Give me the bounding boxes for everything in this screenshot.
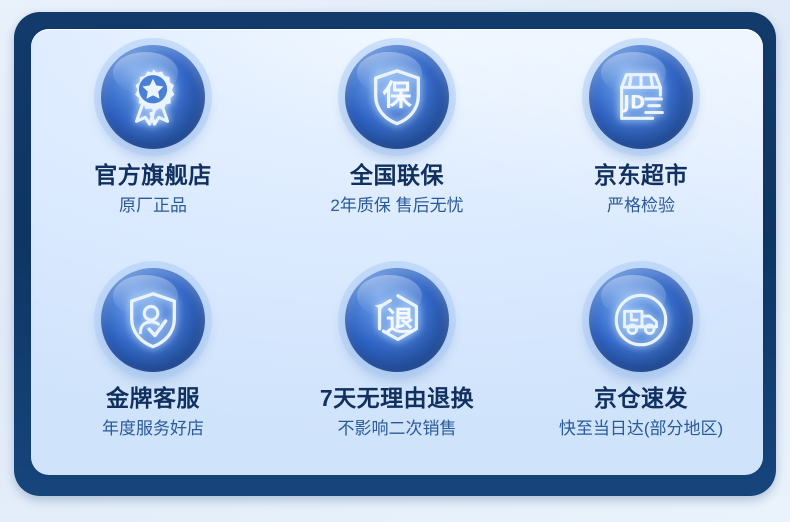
feature-subtitle: 快至当日达(部分地区) — [559, 419, 723, 439]
feature-subtitle: 不影响二次销售 — [338, 419, 457, 439]
svg-text:保: 保 — [381, 78, 412, 112]
feature-grid: 官方旗舰店 原厂正品 保 全国联保 2年质保 售后无忧 — [31, 29, 763, 475]
feature-title: 京东超市 — [594, 163, 688, 189]
feature-item-official-store[interactable]: 官方旗舰店 原厂正品 — [31, 29, 275, 252]
shield-bao-icon: 保 — [345, 45, 449, 149]
feature-title: 全国联保 — [350, 163, 444, 189]
delivery-truck-icon — [589, 268, 693, 372]
feature-title: 金牌客服 — [106, 386, 200, 412]
feature-item-jd-supermarket[interactable]: JD 京东超市 严格检验 — [519, 29, 763, 252]
feature-subtitle: 原厂正品 — [119, 196, 187, 216]
feature-title: 7天无理由退换 — [320, 386, 474, 412]
return-hexagon-tui-icon: 退 — [345, 268, 449, 372]
feature-item-gold-service[interactable]: 金牌客服 年度服务好店 — [31, 252, 275, 475]
feature-item-national-warranty[interactable]: 保 全国联保 2年质保 售后无忧 — [275, 29, 519, 252]
feature-subtitle: 年度服务好店 — [102, 419, 204, 439]
feature-subtitle: 2年质保 售后无忧 — [330, 196, 463, 216]
svg-text:退: 退 — [386, 305, 414, 338]
feature-subtitle: 严格检验 — [607, 196, 675, 216]
medal-badge-icon — [101, 45, 205, 149]
promo-banner-frame: 官方旗舰店 原厂正品 保 全国联保 2年质保 售后无忧 — [14, 12, 776, 496]
svg-text:JD: JD — [621, 93, 645, 114]
jd-box-icon: JD — [589, 45, 693, 149]
feature-title: 官方旗舰店 — [94, 163, 212, 189]
feature-title: 京仓速发 — [594, 386, 688, 412]
shield-person-check-icon — [101, 268, 205, 372]
promo-banner-card: 官方旗舰店 原厂正品 保 全国联保 2年质保 售后无忧 — [31, 29, 763, 475]
feature-item-fast-delivery[interactable]: 京仓速发 快至当日达(部分地区) — [519, 252, 763, 475]
feature-item-seven-day-return[interactable]: 退 7天无理由退换 不影响二次销售 — [275, 252, 519, 475]
